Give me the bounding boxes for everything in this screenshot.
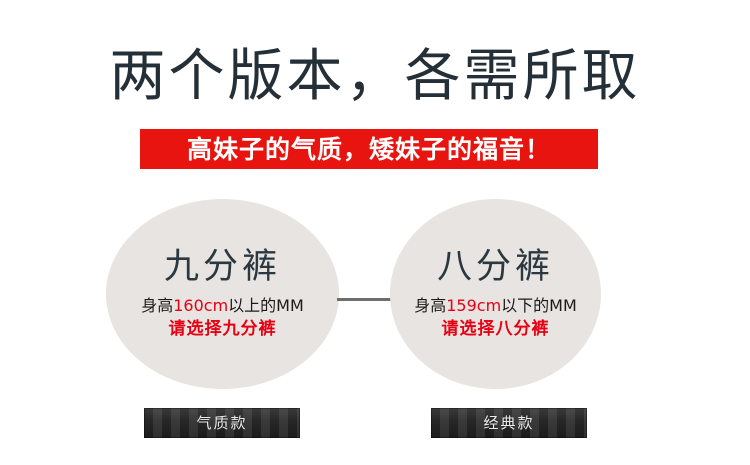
option-left-sub-prefix: 身高 (141, 296, 173, 315)
tag-bar-left: 气质款 (144, 408, 300, 438)
option-left-subtitle: 身高160cm以上的MM (141, 295, 304, 316)
option-left-content: 九分裤 身高160cm以上的MM 请选择九分裤 (106, 199, 339, 389)
option-left-cta: 请选择九分裤 (169, 318, 277, 341)
option-right-subtitle: 身高159cm以下的MM (414, 295, 577, 316)
page-title: 两个版本，各需所取 (0, 44, 750, 110)
option-left-height-value: 160cm (173, 296, 228, 315)
tag-bar-right: 经典款 (431, 408, 587, 438)
option-left-sub-suffix: 以上的MM (228, 296, 304, 315)
tag-label-left: 气质款 (196, 416, 247, 431)
option-right-title: 八分裤 (437, 247, 554, 287)
tag-label-right: 经典款 (483, 416, 534, 431)
option-right-height-value: 159cm (446, 296, 501, 315)
connector-line (337, 298, 393, 301)
highlight-banner: 高妹子的气质，矮妹子的福音！ (140, 129, 598, 169)
option-circle-left[interactable]: 九分裤 身高160cm以上的MM 请选择九分裤 (106, 199, 339, 389)
option-right-cta: 请选择八分裤 (442, 318, 550, 341)
option-circle-right[interactable]: 八分裤 身高159cm以下的MM 请选择八分裤 (390, 199, 601, 389)
option-left-title: 九分裤 (164, 247, 281, 287)
option-right-sub-suffix: 以下的MM (501, 296, 577, 315)
option-right-sub-prefix: 身高 (414, 296, 446, 315)
promo-banner-page: 两个版本，各需所取 高妹子的气质，矮妹子的福音！ 九分裤 身高160cm以上的M… (0, 0, 750, 465)
option-right-content: 八分裤 身高159cm以下的MM 请选择八分裤 (390, 199, 601, 389)
highlight-banner-text: 高妹子的气质，矮妹子的福音！ (187, 137, 551, 162)
